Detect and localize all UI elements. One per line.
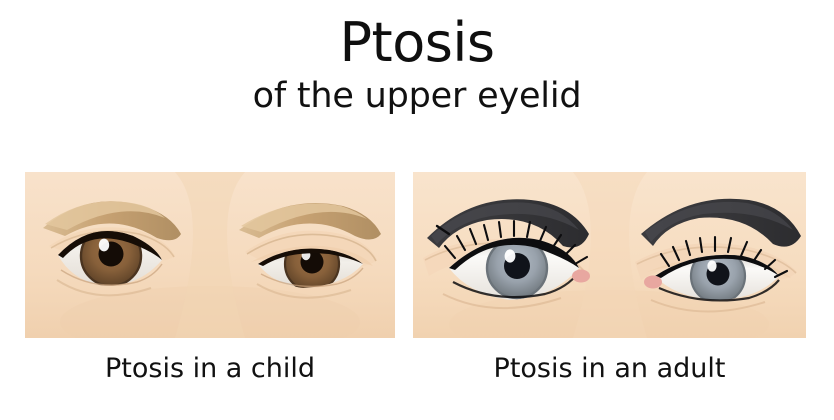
adult-eye-highlight-right: [707, 260, 716, 271]
caption-adult: Ptosis in an adult: [413, 352, 806, 386]
illustration-panel-child: [25, 172, 395, 338]
child-eye-highlight-left: [99, 239, 109, 252]
adult-caruncle-right: [644, 276, 662, 289]
page-title: Ptosis: [0, 14, 834, 72]
adult-eyes-illustration: [413, 172, 806, 338]
adult-caruncle-left: [572, 270, 590, 283]
caption-child: Ptosis in a child: [25, 352, 395, 386]
child-eyes-illustration: [25, 172, 395, 338]
illustration-panel-adult: [413, 172, 806, 338]
caption-row: Ptosis in a child Ptosis in an adult: [0, 352, 834, 398]
heading-block: Ptosis of the upper eyelid: [0, 14, 834, 116]
illustration-panels: [0, 172, 834, 340]
adult-eye-highlight-left: [505, 249, 516, 262]
ptosis-infographic: Ptosis of the upper eyelid: [0, 0, 834, 420]
page-subtitle: of the upper eyelid: [0, 76, 834, 116]
